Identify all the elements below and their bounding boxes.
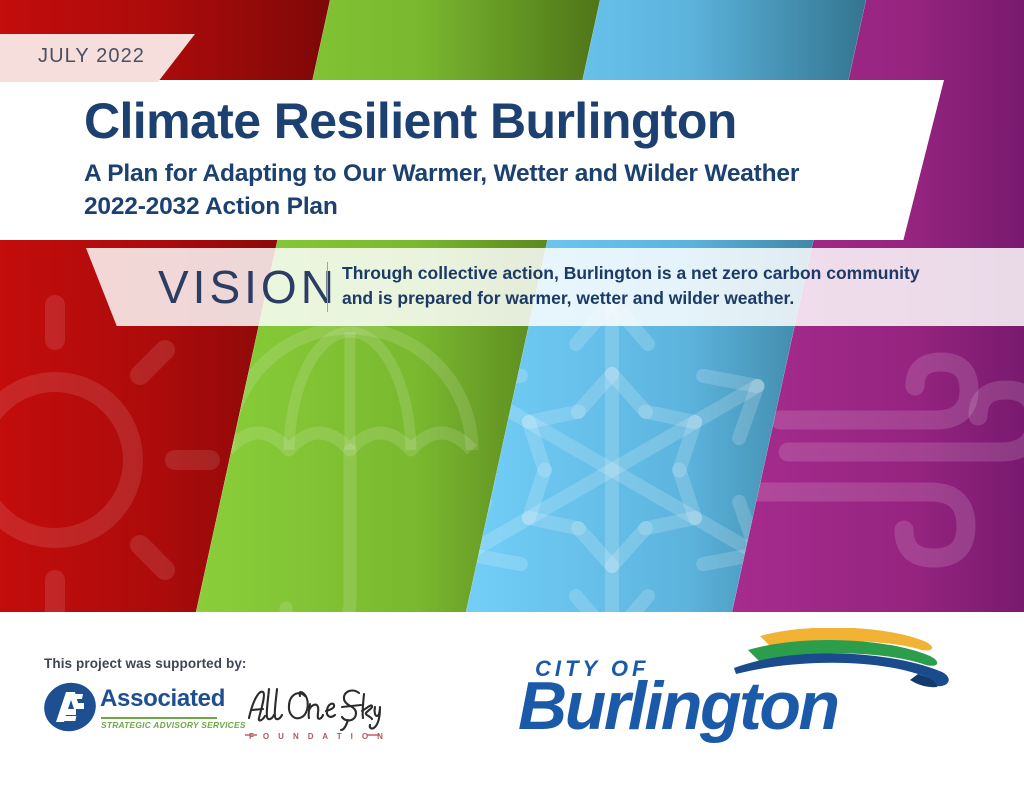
page-subtitle-line-2: 2022-2032 Action Plan	[84, 193, 338, 221]
all-one-sky-script-icon	[243, 680, 381, 732]
publication-date: JULY 2022	[38, 45, 145, 68]
all-one-sky-rules-icon	[243, 730, 381, 740]
associated-divider	[101, 717, 217, 719]
associated-tagline: STRATEGIC ADVISORY SERVICES	[101, 720, 246, 730]
city-logo-line-2: Burlington	[518, 672, 838, 740]
page-subtitle-line-1: A Plan for Adapting to Our Warmer, Wette…	[84, 160, 799, 188]
document-cover: JULY 2022 Climate Resilient Burlington A…	[0, 0, 1024, 785]
title-panel: Climate Resilient Burlington A Plan for …	[0, 80, 944, 240]
vision-statement-line-1: Through collective action, Burlington is…	[342, 261, 1002, 286]
supported-by-label: This project was supported by:	[44, 656, 247, 671]
associated-wordmark: Associated	[100, 685, 225, 713]
associated-monogram-icon	[44, 680, 96, 734]
vision-statement: Through collective action, Burlington is…	[342, 261, 1002, 311]
logo-city-of-burlington: CITY OF Burlington	[510, 628, 950, 746]
date-ribbon: JULY 2022	[0, 34, 195, 82]
logo-associated: Associated STRATEGIC ADVISORY SERVICES	[44, 676, 219, 738]
vision-statement-line-2: and is prepared for warmer, wetter and w…	[342, 286, 1002, 311]
logo-all-one-sky: F O U N D A T I O N	[243, 680, 381, 746]
vision-heading: VISION	[158, 260, 338, 314]
page-title: Climate Resilient Burlington	[84, 95, 737, 148]
